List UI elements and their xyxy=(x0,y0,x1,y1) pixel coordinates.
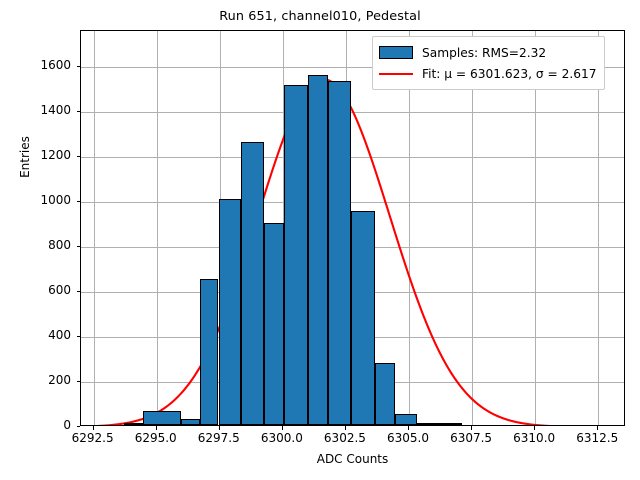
x-tick-label-8: 6312.5 xyxy=(552,431,640,445)
histogram-bar xyxy=(284,85,308,425)
chart-title: Run 651, channel010, Pedestal xyxy=(0,9,640,24)
y-tick-label-5: 1000 xyxy=(0,193,71,207)
y-tick-2 xyxy=(77,336,81,337)
x-tick-3 xyxy=(282,426,283,430)
histogram-bar xyxy=(417,423,440,425)
legend: Samples: RMS=2.32 Fit: μ = 6301.623, σ =… xyxy=(372,36,605,90)
x-tick-6 xyxy=(471,426,472,430)
legend-entry-samples: Samples: RMS=2.32 xyxy=(379,42,596,63)
y-tick-7 xyxy=(77,111,81,112)
y-tick-label-3: 600 xyxy=(0,283,71,297)
y-tick-label-8: 1600 xyxy=(0,58,71,72)
y-tick-label-6: 1200 xyxy=(0,148,71,162)
legend-patch-icon xyxy=(379,46,413,59)
histogram-bar xyxy=(181,419,200,425)
histogram-bar xyxy=(241,142,264,426)
histogram-bar xyxy=(143,411,181,425)
x-tick-5 xyxy=(408,426,409,430)
y-axis-label: Entries xyxy=(18,57,32,257)
histogram-bar xyxy=(439,423,462,425)
histogram-bar xyxy=(124,423,143,425)
x-tick-2 xyxy=(219,426,220,430)
histogram-bar xyxy=(264,223,284,426)
histogram-bar xyxy=(328,81,351,425)
y-tick-4 xyxy=(77,246,81,247)
legend-label-fit: Fit: μ = 6301.623, σ = 2.617 xyxy=(422,67,596,81)
x-tick-7 xyxy=(534,426,535,430)
histogram-bar xyxy=(219,199,242,425)
x-tick-1 xyxy=(156,426,157,430)
x-tick-4 xyxy=(345,426,346,430)
x-tick-0 xyxy=(93,426,94,430)
legend-entry-fit: Fit: μ = 6301.623, σ = 2.617 xyxy=(379,63,596,84)
y-tick-3 xyxy=(77,291,81,292)
x-tick-8 xyxy=(597,426,598,430)
histogram-bar xyxy=(395,414,416,425)
y-tick-label-4: 800 xyxy=(0,238,71,252)
y-tick-5 xyxy=(77,201,81,202)
legend-label-samples: Samples: RMS=2.32 xyxy=(422,46,546,60)
y-tick-label-7: 1400 xyxy=(0,103,71,117)
y-tick-0 xyxy=(77,426,81,427)
y-tick-1 xyxy=(77,381,81,382)
histogram-bar xyxy=(200,279,219,425)
x-axis-label: ADC Counts xyxy=(80,452,625,466)
legend-line-icon xyxy=(379,73,413,75)
y-tick-8 xyxy=(77,66,81,67)
y-tick-label-1: 200 xyxy=(0,373,71,387)
matplotlib-figure: Run 651, channel010, Pedestal 6292.56295… xyxy=(0,0,640,480)
histogram-bar xyxy=(351,211,375,425)
y-tick-6 xyxy=(77,156,81,157)
histogram-bar xyxy=(308,75,328,425)
histogram-bar xyxy=(375,363,395,425)
y-tick-label-0: 0 xyxy=(0,418,71,432)
y-tick-label-2: 400 xyxy=(0,328,71,342)
